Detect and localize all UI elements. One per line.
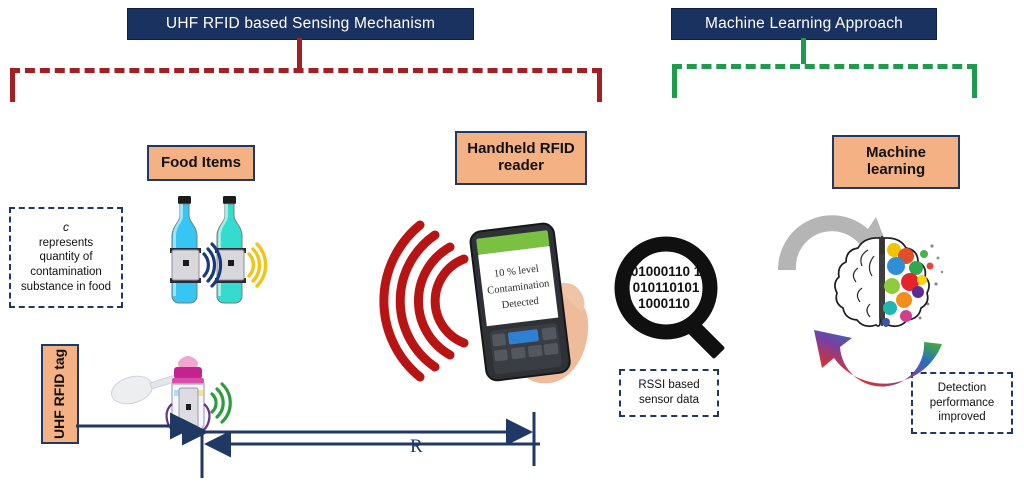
magnifier-binary-illustration: 01000110 1 010110101 1000110 (614, 242, 736, 354)
header-banner-ml: Machine Learning Approach (671, 8, 937, 40)
handheld-reader-illustration: 10 % level Contamination Detected (404, 215, 600, 387)
bottle-blue (170, 196, 201, 303)
rf-wave-yellow-icon (249, 244, 266, 286)
connector-arrows (60, 400, 560, 482)
label-handheld-reader-line2: reader (498, 158, 544, 175)
machine-learning-illustration (772, 192, 962, 392)
note-contamination: c represents quantity of contamination s… (9, 207, 123, 308)
header-banner-ml-label: Machine Learning Approach (705, 15, 903, 33)
note-detection-line2: performance (930, 396, 995, 411)
note-rssi-line2: sensor data (639, 393, 699, 408)
note-contamination-line3: contamination (30, 265, 102, 280)
bracket-stem-red (297, 38, 302, 68)
distance-label-R-text: R (410, 436, 423, 457)
note-rssi: RSSI based sensor data (619, 369, 719, 417)
rfid-reader-device: 10 % level Contamination Detected (469, 222, 571, 381)
binary-row-3: 1000110 (638, 296, 690, 311)
label-box-handheld-reader: Handheld RFID reader (455, 131, 587, 185)
cycle-arrow-rainbow-icon (814, 330, 942, 387)
note-contamination-line2: quantity of (39, 250, 92, 265)
bracket-top-red (10, 68, 602, 73)
label-machine-learning-line1: Machine (866, 145, 926, 162)
distance-label-R: R (410, 436, 423, 458)
bracket-tick-left-green (672, 64, 677, 98)
bracket-tick-right-red (597, 68, 602, 102)
label-food-items: Food Items (161, 155, 241, 172)
note-rssi-line1: RSSI based (638, 378, 699, 393)
brain-icon (835, 236, 943, 326)
note-contamination-symbol: c (63, 220, 69, 235)
note-detection-line3: improved (938, 410, 985, 425)
food-bottles-illustration (150, 192, 270, 310)
header-banner-sensing: UHF RFID based Sensing Mechanism (127, 8, 474, 40)
note-contamination-line1: represents (39, 236, 93, 251)
bracket-stem-green (801, 38, 806, 64)
label-box-food-items: Food Items (147, 145, 255, 181)
binary-row-1: 01000110 1 (631, 264, 702, 279)
bracket-tick-right-green (972, 64, 977, 98)
label-box-machine-learning: Machine learning (832, 135, 960, 189)
note-contamination-line4: substance in food (21, 280, 111, 295)
bracket-top-green (672, 64, 977, 69)
label-handheld-reader-line1: Handheld RFID (467, 141, 575, 158)
bottle-cyan (215, 196, 246, 303)
rf-wave-red-icon (384, 225, 464, 377)
label-machine-learning-line2: learning (867, 162, 925, 179)
bracket-tick-left-red (10, 68, 15, 102)
header-banner-sensing-label: UHF RFID based Sensing Mechanism (166, 15, 435, 33)
binary-row-2: 010110101 (633, 280, 700, 295)
figure-canvas: UHF RFID based Sensing Mechanism Machine… (0, 0, 1024, 482)
